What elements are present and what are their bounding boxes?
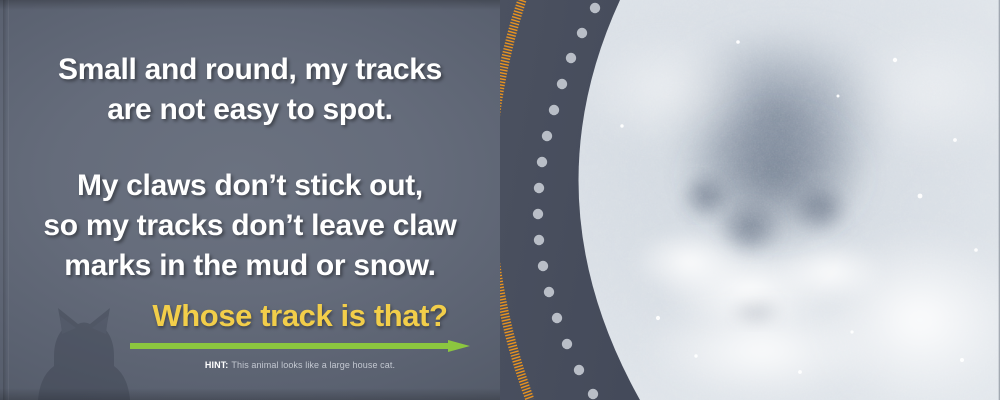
book-page-spread: Small and round, my tracks are not easy … — [0, 0, 1000, 400]
dotted-arc — [533, 3, 600, 399]
decorative-arcs — [500, 0, 1000, 400]
stanza-one-line-1: Small and round, my tracks — [0, 50, 500, 90]
top-edge-shadow — [0, 0, 540, 10]
question-heading: Whose track is that? — [120, 300, 480, 333]
stanza-two-line-3: marks in the mud or snow. — [0, 246, 500, 286]
stanza-two-line-2: so my tracks don’t leave claw — [0, 206, 500, 246]
orange-hatched-arc — [500, 0, 530, 400]
photo-panel — [500, 0, 1000, 400]
body-copy: Small and round, my tracks are not easy … — [0, 50, 500, 285]
question-block: Whose track is that? HINT:This animal lo… — [120, 300, 480, 370]
hint-text: This animal looks like a large house cat… — [231, 360, 395, 370]
hint-line: HINT:This animal looks like a large hous… — [120, 360, 480, 370]
text-panel: Small and round, my tracks are not easy … — [0, 0, 540, 400]
green-arrow — [130, 339, 470, 353]
stanza-two: My claws don’t stick out, so my tracks d… — [0, 166, 500, 286]
hint-label: HINT: — [205, 360, 229, 370]
stanza-two-line-1: My claws don’t stick out, — [0, 166, 500, 206]
stanza-one-line-2: are not easy to spot. — [0, 90, 500, 130]
stanza-one: Small and round, my tracks are not easy … — [0, 50, 500, 130]
